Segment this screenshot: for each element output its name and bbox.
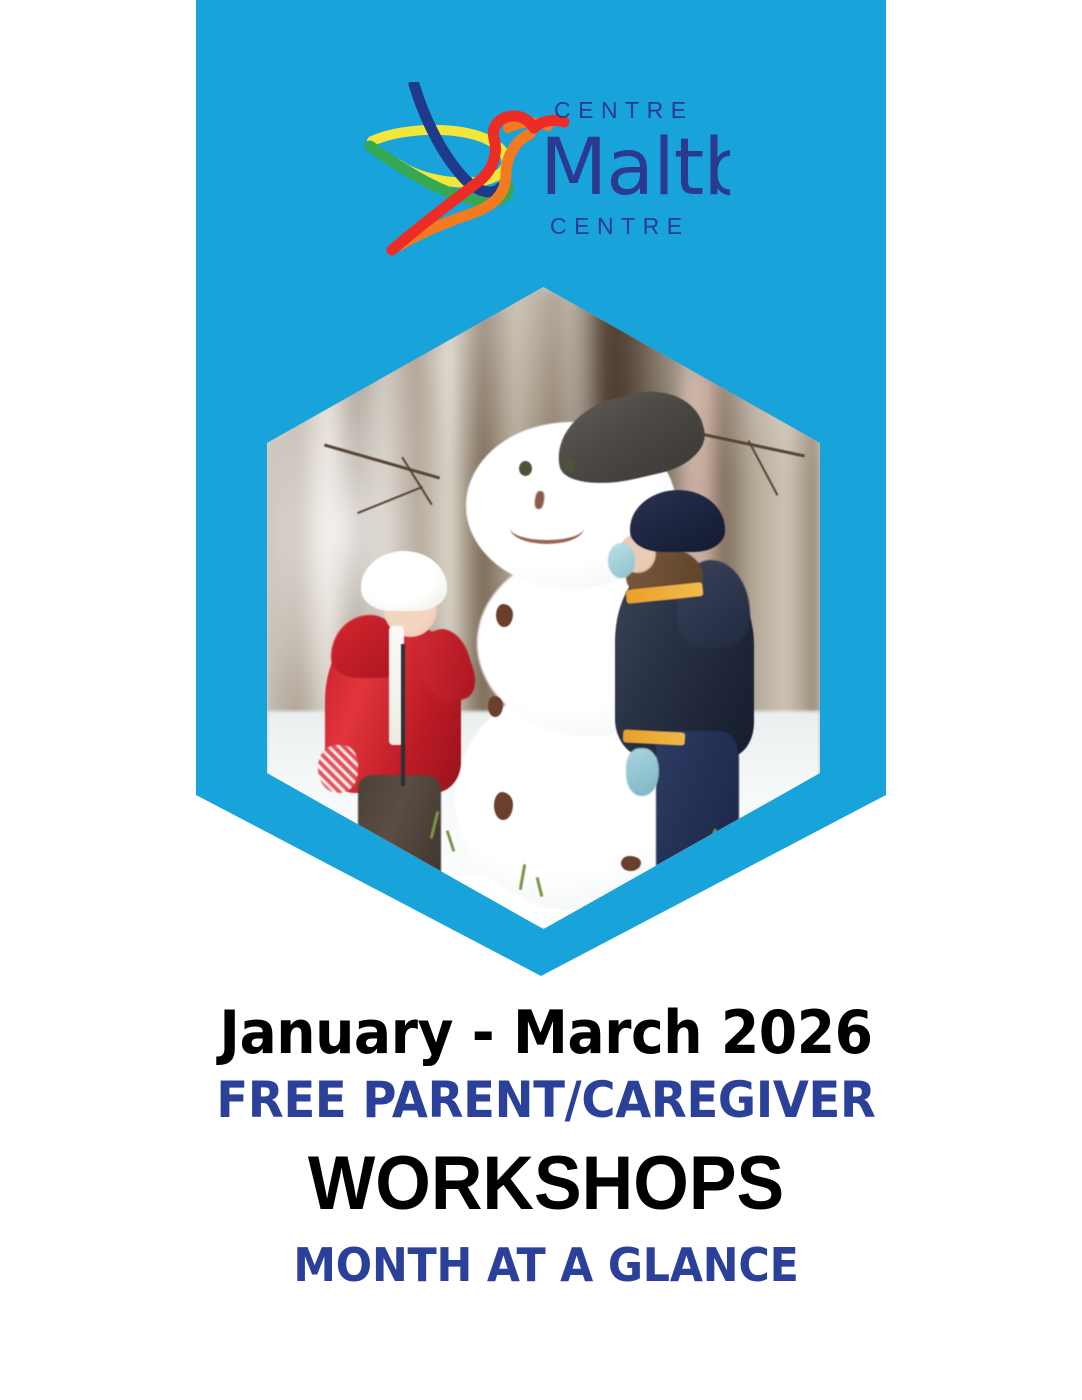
- poster-page: CENTRE Maltby CENTRE: [0, 0, 1082, 1400]
- subtitle-heading: MONTH AT A GLANCE: [48, 1233, 1045, 1297]
- coat-zipper: [401, 644, 405, 785]
- snowman-eye: [519, 461, 532, 476]
- yellow-stripe: [622, 729, 685, 745]
- kicker-heading: FREE PARENT/CAREGIVER: [48, 1067, 1045, 1135]
- svg-text:CENTRE: CENTRE: [554, 97, 694, 123]
- navy-knit-hat: [630, 490, 725, 551]
- headline-block: January - March 2026 FREE PARENT/CAREGIV…: [0, 1000, 1082, 1298]
- snowman-button: [494, 792, 513, 820]
- snowman-smile: [510, 512, 584, 544]
- snowman-eye: [563, 458, 576, 473]
- blue-mitten: [608, 543, 635, 578]
- maltby-centre-logo: CENTRE Maltby CENTRE: [358, 82, 730, 257]
- svg-text:CENTRE: CENTRE: [550, 213, 690, 239]
- page-title: WORKSHOPS: [42, 1135, 1050, 1234]
- blue-mitten: [626, 748, 659, 796]
- date-range-heading: January - March 2026: [53, 1000, 1039, 1067]
- white-knit-hat: [361, 551, 447, 611]
- red-mitten: [318, 745, 358, 793]
- svg-text:Maltby: Maltby: [540, 123, 730, 213]
